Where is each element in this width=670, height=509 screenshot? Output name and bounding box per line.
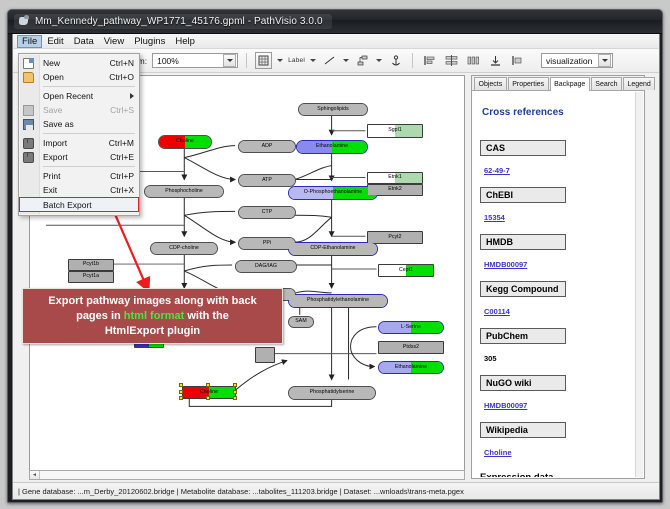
line-icon-glyph [324, 55, 336, 66]
align-left-icon[interactable] [421, 52, 438, 69]
menu-separator [43, 133, 135, 134]
scroll-left-icon[interactable]: ◄ [30, 471, 40, 479]
node-label: L-Serine [401, 325, 421, 330]
window-title: Mm_Kennedy_pathway_WP1771_45176.gpml - P… [35, 16, 323, 27]
order-icon-glyph [511, 55, 524, 66]
align-left-icon-glyph [423, 55, 436, 66]
file-menu-item-shortcut: Ctrl+P [110, 171, 134, 181]
xref-value-row: HMDB00097 [480, 254, 629, 281]
pathway-node-dag-iag[interactable]: DAG/IAG [235, 260, 297, 273]
grid-icon[interactable] [255, 52, 272, 69]
node-label: DAG/IAG [255, 264, 277, 269]
node-label: Choline [176, 139, 194, 144]
pathway-node-ppi[interactable]: PPi [238, 237, 296, 250]
file-menu-dropdown[interactable]: NewCtrl+NOpenCtrl+OOpen RecentSaveCtrl+S… [18, 53, 140, 216]
cross-reference-list: CAS62-49-7ChEBI15354HMDBHMDB00097Kegg Co… [480, 140, 629, 469]
file-menu-item-label: Import [43, 138, 67, 148]
selection-handle[interactable] [233, 390, 237, 394]
file-menu-item-label: Open [43, 72, 64, 82]
node-label: Choline [200, 390, 218, 395]
file-menu-item-label: Save [43, 105, 62, 115]
menu-plugins[interactable]: Plugins [129, 35, 170, 48]
node-label: Etnk1 [388, 175, 402, 180]
save-icon [23, 105, 34, 116]
file-menu-item-shortcut: Ctrl+N [110, 58, 134, 68]
file-menu-item-save-as[interactable]: Save as [19, 117, 139, 131]
pathway-node-phosphatidylethanolamine[interactable]: Phosphatidylethanolamine [288, 294, 388, 308]
label-button[interactable]: Label [288, 57, 305, 64]
anchor-icon-glyph [390, 55, 402, 67]
xref-link[interactable]: HMDB00097 [484, 401, 527, 410]
file-menu-item-exit[interactable]: ExitCtrl+X [19, 183, 139, 197]
xref-db-label: PubChem [480, 328, 566, 344]
stack-icon[interactable] [487, 52, 504, 69]
submenu-chevron-right-icon [130, 93, 134, 99]
menu-separator [43, 166, 135, 167]
node-label: Etnk2 [388, 187, 402, 192]
file-menu-item-shortcut: Ctrl+S [110, 105, 134, 115]
pathway-node-pcyt2[interactable]: Pcyt2 [367, 231, 423, 244]
node-label: Phosphatidylserine [310, 390, 355, 395]
export-icon [23, 152, 34, 163]
visualization-combobox[interactable]: visualization [541, 53, 613, 68]
pathway-node-ethanolamine[interactable]: Ethanolamine [296, 140, 368, 154]
selection-handle[interactable] [179, 383, 183, 387]
toolbar-separator-2 [412, 53, 413, 68]
xref-value-row: C00114 [480, 301, 629, 328]
stack-icon-glyph [489, 55, 502, 66]
selection-handle[interactable] [233, 383, 237, 387]
node-label: Phosphatidylethanolamine [307, 298, 369, 303]
pathvisio-window: Mm_Kennedy_pathway_WP1771_45176.gpml - P… [7, 9, 663, 503]
window-titlebar[interactable]: Mm_Kennedy_pathway_WP1771_45176.gpml - P… [8, 10, 662, 34]
annotation-callout-text: Export pathway images along with back pa… [41, 294, 263, 339]
pathway-node-cept1[interactable]: Cept1 [378, 264, 434, 277]
node-label: O-Phosphoethanolamine [304, 190, 362, 195]
xref-value-row: 62-49-7 [480, 160, 629, 187]
file-menu-item-label: Open Recent [43, 91, 93, 101]
file-menu-item-save: SaveCtrl+S [19, 103, 139, 117]
tab-search[interactable]: Search [591, 77, 622, 90]
selection-handle[interactable] [179, 390, 183, 394]
connector-icon[interactable] [354, 52, 371, 69]
node-label: Sgpl1 [388, 128, 402, 133]
line-dropdown-icon[interactable] [343, 59, 349, 62]
file-menu-item-label: Export [43, 152, 68, 162]
xref-link[interactable]: C00114 [484, 307, 510, 316]
file-menu-item-new[interactable]: NewCtrl+N [19, 56, 139, 70]
node-fill-left [256, 348, 265, 362]
connector-icon-glyph [357, 55, 369, 66]
pathway-node-etnk1[interactable]: Etnk1 [367, 172, 423, 184]
backpage-content: Cross references CAS62-49-7ChEBI15354HMD… [473, 92, 635, 477]
pathvisio-app-icon [18, 15, 30, 27]
pathway-node-adp[interactable]: ADP [238, 140, 296, 153]
xref-value-row: Choline [480, 442, 629, 469]
xref-db-label: CAS [480, 140, 566, 156]
side-panel-tabs: Objects Properties Backpage Search Legen… [472, 76, 644, 91]
node-label: Ptdss2 [403, 345, 419, 350]
pathway-node-pcyt1a[interactable]: Pcyt1a [68, 271, 114, 283]
screenshot-root: Mm_Kennedy_pathway_WP1771_45176.gpml - P… [0, 0, 670, 509]
connector-dropdown-icon[interactable] [376, 59, 382, 62]
pathway-node-cdp-choline[interactable]: CDP-choline [150, 242, 218, 255]
node-label: CDP-choline [169, 246, 199, 251]
new-document-icon [23, 58, 34, 69]
node-label: ATP [262, 178, 272, 183]
menu-edit[interactable]: Edit [42, 35, 68, 48]
node-fill-right [265, 348, 274, 362]
pathway-node-o-phosphoethanolamine[interactable]: O-Phosphoethanolamine [288, 186, 378, 200]
pathway-node-phosphocholine[interactable]: Phosphocholine [144, 185, 224, 198]
pathway-node-cdp-ethanolamine[interactable]: CDP-Ethanolamine [288, 242, 378, 256]
statusbar: | Gene database: ...m_Derby_20120602.bri… [13, 482, 659, 499]
xref-link[interactable]: Choline [484, 448, 512, 457]
node-label: Cept1 [399, 268, 413, 273]
cross-references-heading: Cross references [482, 107, 629, 118]
scrollbar-thumb[interactable] [40, 471, 464, 479]
window-title-group: Mm_Kennedy_pathway_WP1771_45176.gpml - P… [14, 14, 332, 29]
node-label: Ethanolamine [316, 144, 348, 149]
node-label: Ethanolamine [395, 365, 427, 370]
side-panel-scrollbar[interactable] [635, 92, 643, 477]
menu-view[interactable]: View [99, 35, 129, 48]
callout-line-2a: pages in [76, 310, 124, 322]
file-menu-item-label: Exit [43, 185, 57, 195]
file-menu-item-shortcut: Ctrl+O [109, 72, 134, 82]
tab-legend[interactable]: Legend [623, 77, 655, 90]
xref-value-row: HMDB00097 [480, 395, 629, 422]
node-label: Sphingolipids [317, 107, 349, 112]
xref-value-row: 305 [480, 348, 629, 375]
pathway-node-anchor-box[interactable] [255, 347, 275, 363]
pathway-node-sam[interactable]: SAM [288, 316, 314, 328]
file-menu-item-print[interactable]: PrintCtrl+P [19, 169, 139, 183]
file-menu-item-label: New [43, 58, 60, 68]
zoom-value: 100% [157, 56, 179, 66]
import-icon [23, 138, 34, 149]
xref-db-label: ChEBI [480, 187, 566, 203]
menu-separator [43, 86, 135, 87]
selection-handle[interactable] [206, 383, 210, 387]
xref-link[interactable]: 62-49-7 [484, 166, 510, 175]
node-label: Phosphocholine [165, 189, 203, 194]
line-icon[interactable] [321, 52, 338, 69]
file-menu-item-export[interactable]: ExportCtrl+E [19, 150, 139, 164]
pathway-node-etnk2[interactable]: Etnk2 [367, 184, 423, 196]
distribute-icon-glyph [467, 55, 480, 66]
grid-icon-glyph [258, 55, 269, 66]
callout-highlight: html format [124, 310, 185, 322]
callout-line-1: Export pathway images along with back [48, 295, 256, 307]
pathway-node-phosphatidylserine[interactable]: Phosphatidylserine [288, 386, 376, 400]
node-label: SAM [295, 319, 306, 324]
align-center-icon-glyph [445, 55, 458, 66]
xref-link[interactable]: 15354 [484, 213, 505, 222]
canvas-horizontal-scrollbar[interactable]: ◄ [29, 470, 465, 480]
node-label: ADP [262, 144, 273, 149]
side-panel: Objects Properties Backpage Search Legen… [471, 75, 645, 479]
file-menu-item-batch-export[interactable]: Batch Export [19, 197, 139, 212]
xref-value-row: 15354 [480, 207, 629, 234]
annotation-callout: Export pathway images along with back pa… [22, 288, 283, 344]
visualization-value: visualization [546, 56, 592, 66]
xref-db-label: HMDB [480, 234, 566, 250]
pathway-node-choline-top[interactable]: Choline [158, 135, 212, 149]
window-client-area: File Edit Data View Plugins Help Zoom: 1… [12, 34, 660, 500]
node-label: CTP [262, 210, 273, 215]
statusbar-text: | Gene database: ...m_Derby_20120602.bri… [18, 487, 464, 496]
open-folder-icon [23, 72, 34, 83]
pathway-node-l-serine[interactable]: L-Serine [378, 321, 444, 334]
xref-db-label: NuGO wiki [480, 375, 566, 391]
file-menu-item-open-recent[interactable]: Open Recent [19, 89, 139, 103]
node-label: PPi [263, 241, 271, 246]
xref-link[interactable]: HMDB00097 [484, 260, 527, 269]
toolbar-separator [246, 53, 247, 68]
tab-objects[interactable]: Objects [474, 77, 507, 90]
callout-line-3: HtmlExport plugin [105, 325, 200, 337]
label-dropdown-icon[interactable] [310, 59, 316, 62]
menu-data[interactable]: Data [69, 35, 99, 48]
file-menu-item-shortcut: Ctrl+M [109, 138, 134, 148]
distribute-icon[interactable] [465, 52, 482, 69]
node-label: Pcyt1b [83, 262, 99, 267]
align-center-icon[interactable] [443, 52, 460, 69]
expression-data-heading: Expression data [480, 472, 629, 477]
pathway-node-ctp[interactable]: CTP [238, 206, 296, 219]
visualization-chevron-down-icon[interactable] [598, 54, 611, 67]
node-label: Pcyt1a [83, 274, 99, 279]
file-menu-item-shortcut: Ctrl+E [110, 152, 134, 162]
menu-file[interactable]: File [17, 35, 42, 48]
xref-value: 305 [484, 354, 497, 363]
pathway-node-sgpl1[interactable]: Sgpl1 [367, 124, 423, 138]
save-as-icon [23, 119, 34, 130]
file-menu-item-label: Batch Export [43, 200, 92, 210]
pathway-node-sphingolipids[interactable]: Sphingolipids [298, 103, 368, 116]
file-menu-item-import[interactable]: ImportCtrl+M [19, 136, 139, 150]
pathway-node-pcyt1b[interactable]: Pcyt1b [68, 259, 114, 271]
xref-db-label: Kegg Compound [480, 281, 566, 297]
file-menu-item-open[interactable]: OpenCtrl+O [19, 70, 139, 84]
selection-handle[interactable] [233, 396, 237, 400]
pathway-node-atp[interactable]: ATP [238, 174, 296, 187]
zoom-combobox[interactable]: 100% [152, 53, 238, 68]
selection-handle[interactable] [206, 396, 210, 400]
file-menu-item-label: Save as [43, 119, 74, 129]
order-icon[interactable] [509, 52, 526, 69]
anchor-icon[interactable] [387, 52, 404, 69]
callout-line-2b: with the [184, 310, 229, 322]
tab-properties[interactable]: Properties [508, 77, 549, 90]
file-menu-item-label: Print [43, 171, 60, 181]
tab-backpage[interactable]: Backpage [550, 77, 590, 91]
xref-db-label: Wikipedia [480, 422, 566, 438]
grid-dropdown-icon[interactable] [277, 59, 283, 62]
chevron-down-icon[interactable] [223, 54, 236, 67]
selection-handle[interactable] [179, 396, 183, 400]
menu-help[interactable]: Help [170, 35, 200, 48]
menubar: File Edit Data View Plugins Help [13, 34, 659, 49]
node-label: Pcyt2 [388, 235, 401, 240]
pathway-node-ptdss2[interactable]: Ptdss2 [378, 341, 444, 354]
file-menu-item-shortcut: Ctrl+X [110, 185, 134, 195]
pathway-node-ethanolamine-2[interactable]: Ethanolamine [378, 361, 444, 374]
node-label: CDP-Ethanolamine [310, 246, 355, 251]
